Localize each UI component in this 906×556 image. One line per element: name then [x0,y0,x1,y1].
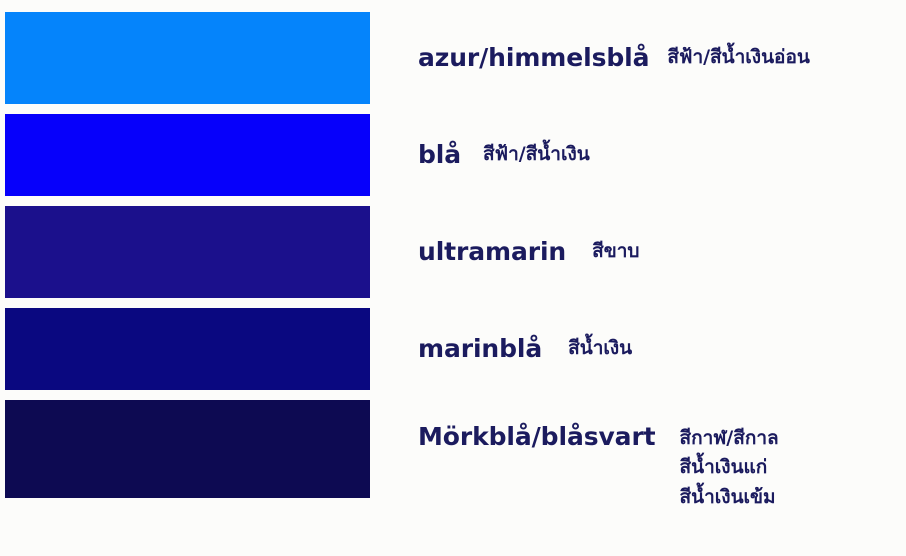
color-swatch [5,400,370,498]
color-name-thai-line: สีน้ำเงินเข้ม [680,483,779,512]
color-name-swedish: marinblå [418,335,542,363]
color-swatch [5,114,370,196]
color-row: blåสีฟ้า/สีน้ำเงิน [0,114,906,196]
color-name-thai-line: สีฟ้า/สีน้ำเงินอ่อน [667,43,809,72]
color-labels: marinblåสีน้ำเงิน [418,308,906,390]
color-labels: azur/himmelsblåสีฟ้า/สีน้ำเงินอ่อน [418,12,906,104]
color-swatch [5,206,370,298]
color-swatch [5,308,370,390]
color-swatch [5,12,370,104]
color-name-thai-line: สีขาบ [592,237,639,266]
color-row: azur/himmelsblåสีฟ้า/สีน้ำเงินอ่อน [0,12,906,104]
color-name-thai-line: สีน้ำเงิน [568,334,632,363]
color-name-thai: สีกาฬ/สีกาลสีน้ำเงินแก่สีน้ำเงินเข้ม [680,424,779,512]
color-row: marinblåสีน้ำเงิน [0,308,906,390]
color-name-thai-line: สีน้ำเงินแก่ [680,453,779,482]
color-name-swedish: Mörkblå/blåsvart [418,423,656,451]
color-labels: blåสีฟ้า/สีน้ำเงิน [418,114,906,196]
color-chart: azur/himmelsblåสีฟ้า/สีน้ำเงินอ่อนblåสีฟ… [0,0,906,556]
color-name-thai: สีน้ำเงิน [568,334,632,363]
color-row: ultramarinสีขาบ [0,206,906,298]
color-name-thai: สีฟ้า/สีน้ำเงินอ่อน [667,43,809,72]
color-name-swedish: blå [418,141,461,169]
color-name-thai-line: สีฟ้า/สีน้ำเงิน [483,140,590,169]
color-labels: ultramarinสีขาบ [418,206,906,298]
color-name-swedish: azur/himmelsblå [418,44,649,72]
color-labels: Mörkblå/blåsvartสีกาฬ/สีกาลสีน้ำเงินแก่ส… [418,400,906,520]
color-name-thai-line: สีกาฬ/สีกาล [680,424,779,453]
color-name-thai: สีขาบ [592,237,639,266]
color-name-swedish: ultramarin [418,238,566,266]
color-row: Mörkblå/blåsvartสีกาฬ/สีกาลสีน้ำเงินแก่ส… [0,400,906,498]
color-name-thai: สีฟ้า/สีน้ำเงิน [483,140,590,169]
